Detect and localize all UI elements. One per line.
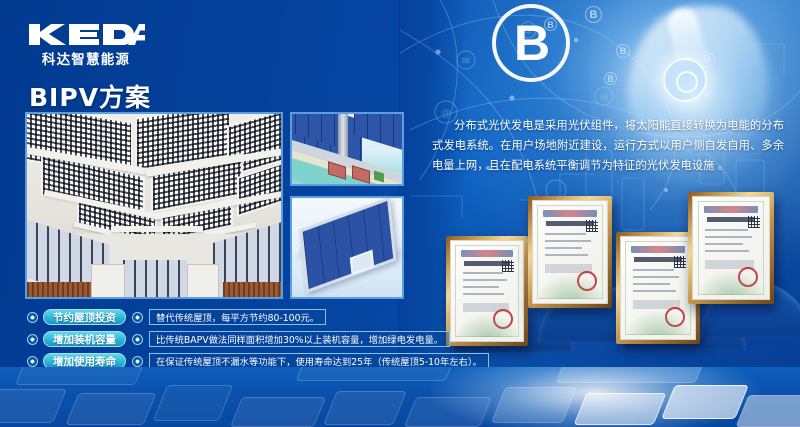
bullet-dot-icon bbox=[27, 356, 38, 367]
certificate-1 bbox=[446, 236, 528, 346]
brand-logo: 科达智慧能源 bbox=[27, 22, 157, 68]
keda-wordmark-icon bbox=[27, 22, 145, 47]
bitcoin-glyph: B bbox=[514, 18, 548, 68]
benefit-detail-1: 替代传统屋顶，每平方节约80-100元。 bbox=[149, 309, 326, 325]
bullet-dot-icon bbox=[27, 334, 38, 345]
benefit-detail-2: 比传统BAPV做法同样面积增加30%以上装机容量，增加绿电发电量。 bbox=[149, 331, 450, 347]
intro-paragraph: 分布式光伏发电是采用光伏组件，将太阳能直接转换为电能的分布式发电系统。在用户场地… bbox=[432, 116, 784, 176]
touch-point-icon bbox=[663, 58, 707, 102]
certificate-4 bbox=[688, 192, 774, 304]
logo-subtitle: 科达智慧能源 bbox=[27, 48, 145, 68]
bullet-dot-icon bbox=[27, 312, 38, 323]
certificate-2 bbox=[528, 196, 612, 308]
decorative-tile-floor bbox=[0, 367, 800, 427]
atrium-skylight-bipv-photo bbox=[25, 112, 283, 299]
atrium-scene bbox=[27, 114, 281, 297]
bitcoin-icon-small-5: B bbox=[544, 18, 557, 31]
bitcoin-logo-large: B bbox=[492, 4, 570, 82]
benefit-row-2: 增加装机容量 比传统BAPV做法同样面积增加30%以上装机容量，增加绿电发电量。 bbox=[27, 330, 447, 348]
panel-mounting-detail-render bbox=[290, 112, 404, 186]
logo-mark bbox=[27, 22, 157, 46]
svg-text:✉: ✉ bbox=[462, 56, 470, 67]
benefit-row-1: 节约屋顶投资 替代传统屋顶，每平方节约80-100元。 bbox=[27, 308, 447, 326]
benefit-label-1: 节约屋顶投资 bbox=[43, 309, 126, 325]
page-title: BIPV方案 bbox=[29, 78, 151, 114]
bullet-dot-icon-secondary bbox=[132, 356, 143, 367]
benefits-list: 节约屋顶投资 替代传统屋顶，每平方节约80-100元。 增加装机容量 比传统BA… bbox=[27, 308, 447, 374]
benefit-label-2: 增加装机容量 bbox=[43, 331, 126, 347]
bullet-dot-icon-secondary bbox=[132, 312, 143, 323]
pv-module-render bbox=[290, 196, 404, 299]
bullet-dot-icon-secondary bbox=[132, 334, 143, 345]
bipv-poster: @✉ ≋◎ B B B B B B 科达智慧能源 BIPV方案 bbox=[0, 0, 800, 427]
